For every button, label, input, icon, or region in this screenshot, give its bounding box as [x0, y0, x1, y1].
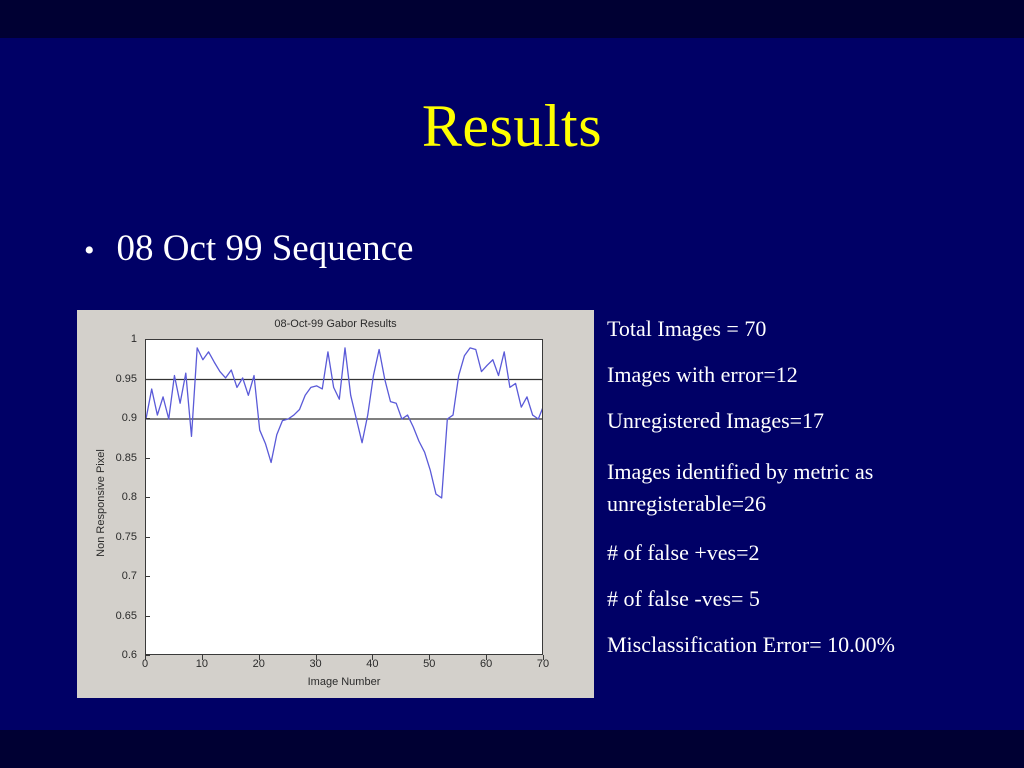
y-axis-tick-label: 0.65	[77, 610, 137, 622]
reference-lines	[146, 380, 543, 420]
y-axis-label: Non Responsive Pixel	[95, 393, 107, 613]
y-axis-tick-mark	[145, 379, 150, 380]
x-axis-tick-mark	[429, 655, 430, 660]
y-axis-tick-label: 1	[77, 333, 137, 345]
x-axis-tick-mark	[259, 655, 260, 660]
y-axis-tick-label: 0.8	[77, 491, 137, 503]
y-axis-tick-mark	[145, 497, 150, 498]
y-axis-tick-label: 0.7	[77, 570, 137, 582]
x-axis-tick-mark	[543, 655, 544, 660]
data-series-line	[146, 348, 543, 498]
results-stats-list: Total Images = 70 Images with error=12 U…	[607, 318, 1007, 680]
y-axis-tick-mark	[145, 537, 150, 538]
x-axis-tick-mark	[316, 655, 317, 660]
y-axis-tick-mark	[145, 418, 150, 419]
y-axis-tick-label: 0.95	[77, 373, 137, 385]
slide-top-band	[0, 0, 1024, 38]
chart-figure: 08-Oct-99 Gabor Results 0.60.650.70.750.…	[77, 310, 594, 698]
stat-line: Images identified by metric as unregiste…	[607, 456, 1007, 520]
page-title: Results	[0, 96, 1024, 156]
stat-line: # of false -ves= 5	[607, 588, 1007, 610]
bullet-marker-icon: •	[84, 236, 95, 266]
x-axis-tick-mark	[145, 655, 146, 660]
x-axis-label: Image Number	[145, 676, 543, 688]
stat-line: Total Images = 70	[607, 318, 1007, 340]
y-axis-tick-mark	[145, 616, 150, 617]
stat-line: Misclassification Error= 10.00%	[607, 634, 1007, 656]
bullet-item: • 08 Oct 99 Sequence	[84, 230, 413, 267]
slide-bottom-band	[0, 730, 1024, 768]
stat-line: Unregistered Images=17	[607, 410, 1007, 432]
x-axis-tick-mark	[202, 655, 203, 660]
y-axis-tick-mark	[145, 458, 150, 459]
y-axis-tick-mark	[145, 576, 150, 577]
stat-line: Images with error=12	[607, 364, 1007, 386]
y-axis-tick-label: 0.75	[77, 531, 137, 543]
y-axis-ticks	[77, 310, 141, 698]
chart-title: 08-Oct-99 Gabor Results	[77, 318, 594, 330]
stat-line: # of false +ves=2	[607, 542, 1007, 564]
slide-canvas: Results • 08 Oct 99 Sequence 08-Oct-99 G…	[0, 0, 1024, 768]
y-axis-tick-label: 0.9	[77, 412, 137, 424]
x-axis-tick-mark	[372, 655, 373, 660]
y-axis-tick-label: 0.85	[77, 452, 137, 464]
bullet-item-label: 08 Oct 99 Sequence	[117, 230, 414, 267]
plot-area	[145, 339, 543, 655]
line-chart-svg	[146, 340, 543, 655]
y-axis-tick-mark	[145, 339, 150, 340]
x-axis-tick-mark	[486, 655, 487, 660]
